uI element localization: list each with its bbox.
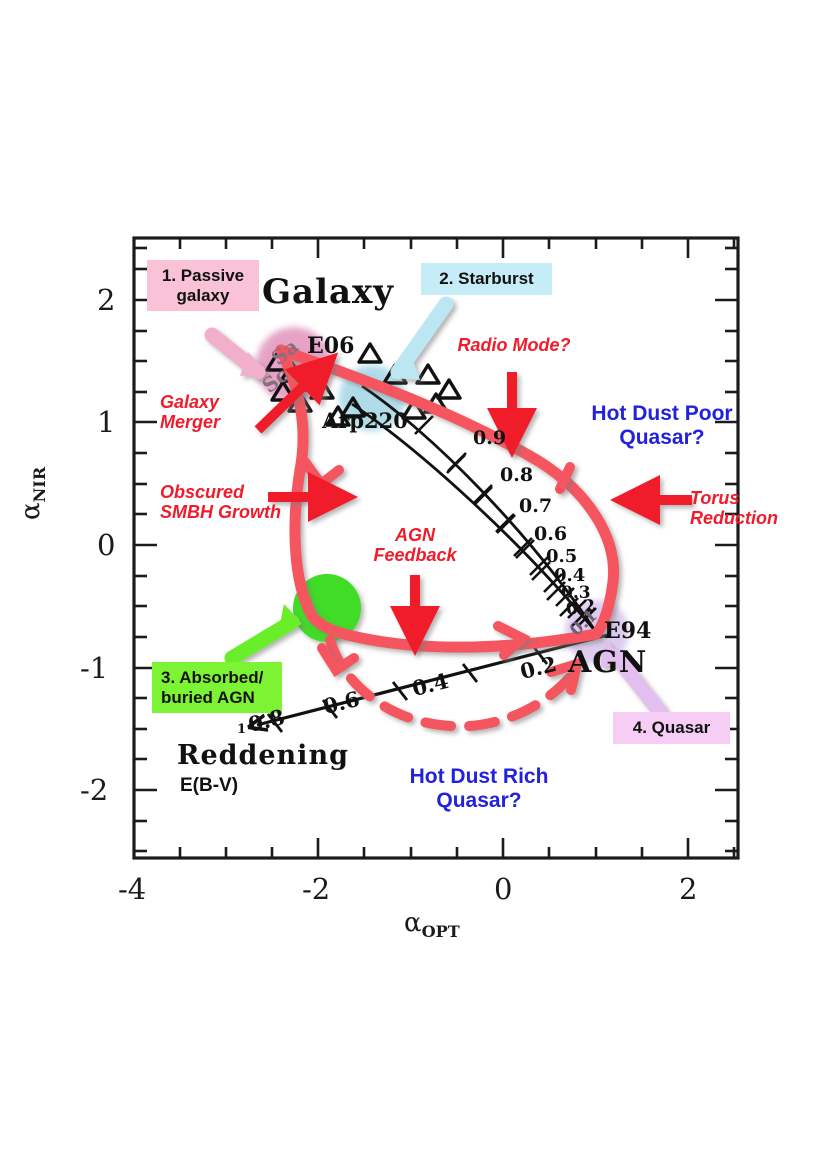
label-reddening: Reddening — [177, 740, 349, 771]
callout-quasar[interactable]: 4. Quasar — [613, 712, 730, 744]
x-axis-sub: OPT — [422, 922, 460, 941]
label-agn-feedback: AGN Feedback — [355, 525, 475, 565]
y-tick-label-0: 2 — [97, 283, 115, 317]
x-tick-label-1: -2 — [302, 872, 330, 906]
label-reddening-ebv: E(B-V) — [180, 775, 238, 797]
label-agn-feedback-line2: Feedback — [355, 545, 475, 565]
x-axis-alpha: α — [404, 908, 422, 938]
mixing-tick-4: 0.5 — [546, 546, 577, 567]
label-hot-dust-rich-quasar: Hot Dust Rich Quasar? — [384, 765, 574, 813]
y-tick-label-4: -2 — [80, 773, 108, 807]
label-torus-reduction: Torus Reduction — [690, 488, 800, 528]
label-galaxy-merger: Galaxy Merger — [160, 392, 280, 432]
figure-root: 1. Passive galaxy 2. Starburst 3. Absorb… — [0, 0, 830, 1175]
x-axis-title: αOPT — [404, 908, 460, 941]
label-torus-line2: Reduction — [690, 508, 800, 528]
callout-passive-galaxy[interactable]: 1. Passive galaxy — [147, 260, 259, 311]
mixing-tick-2: 0.7 — [519, 495, 552, 517]
hdp-line2: Quasar? — [572, 426, 752, 450]
label-galaxy-merger-line1: Galaxy — [160, 392, 280, 412]
callout-passive-galaxy-line2: galaxy — [156, 286, 250, 306]
x-tick-label-0: -4 — [118, 872, 146, 906]
label-arp220: Arp220 — [322, 408, 408, 433]
label-obscured-smbh-growth: Obscured SMBH Growth — [160, 482, 295, 522]
x-tick-label-3: 2 — [679, 872, 697, 906]
y-axis-title: αNIR — [16, 467, 49, 520]
label-galaxy-title: Galaxy — [262, 272, 394, 312]
label-agn-feedback-line1: AGN — [355, 525, 475, 545]
label-e06: E06 — [307, 333, 354, 359]
mixing-tick-1: 0.8 — [500, 464, 533, 486]
callout-quasar-line1: 4. Quasar — [622, 718, 721, 738]
label-e94: E94 — [604, 618, 651, 644]
x-tick-label-2: 0 — [494, 872, 512, 906]
callout-absorbed-agn-line2: buried AGN — [161, 688, 273, 708]
callout-starburst-line1: 2. Starburst — [430, 269, 543, 289]
label-obscured-line1: Obscured — [160, 482, 295, 502]
label-obscured-line2: SMBH Growth — [160, 502, 295, 522]
y-tick-label-2: 0 — [97, 528, 115, 562]
label-torus-line1: Torus — [690, 488, 800, 508]
y-tick-label-3: -1 — [80, 651, 108, 685]
callout-starburst[interactable]: 2. Starburst — [421, 263, 552, 295]
reddening-tick-4: 1 — [237, 722, 246, 737]
hdr-line2: Quasar? — [384, 789, 574, 813]
y-tick-label-1: 1 — [97, 405, 115, 439]
label-agn: AGN — [568, 645, 647, 680]
callout-passive-galaxy-line1: 1. Passive — [156, 266, 250, 286]
mixing-tick-3: 0.6 — [534, 523, 567, 545]
scatter-plot-canvas — [0, 0, 830, 1175]
label-radio-mode: Radio Mode? — [444, 335, 584, 355]
callout-absorbed-agn[interactable]: 3. Absorbed/ buried AGN — [152, 662, 282, 713]
callout-absorbed-agn-line1: 3. Absorbed/ — [161, 668, 273, 688]
label-hot-dust-poor-quasar: Hot Dust Poor Quasar? — [572, 402, 752, 450]
label-galaxy-merger-line2: Merger — [160, 412, 280, 432]
mixing-tick-0: 0.9 — [473, 427, 506, 449]
y-axis-alpha: α — [16, 502, 46, 520]
hdr-line1: Hot Dust Rich — [384, 765, 574, 789]
label-radio-mode-line1: Radio Mode? — [444, 335, 584, 355]
y-axis-sub: NIR — [30, 467, 49, 503]
hdp-line1: Hot Dust Poor — [572, 402, 752, 426]
